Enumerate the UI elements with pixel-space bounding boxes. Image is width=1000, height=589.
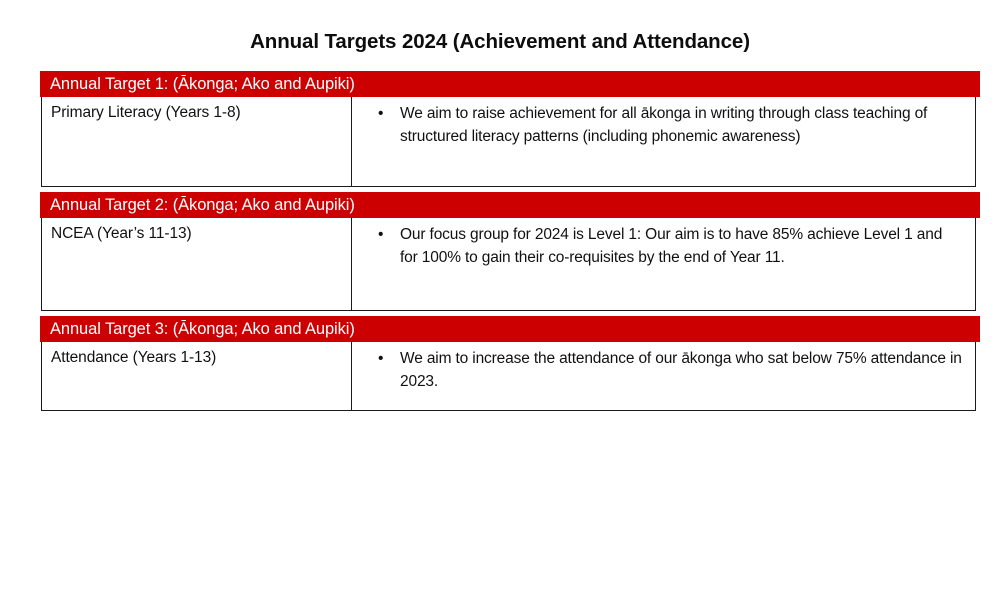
target-1-band: Annual Target 1: (Ākonga; Ako and Aupiki…: [40, 71, 980, 97]
target-1-detail-cell: • We aim to raise achievement for all āk…: [352, 97, 975, 186]
target-3-focus-cell: Attendance (Years 1-13): [42, 342, 352, 410]
target-2-focus-cell: NCEA (Year’s 11-13): [42, 218, 352, 310]
target-3-band: Annual Target 3: (Ākonga; Ako and Aupiki…: [40, 316, 980, 342]
target-3-detail-cell: • We aim to increase the attendance of o…: [352, 342, 975, 410]
target-section-1: Annual Target 1: (Ākonga; Ako and Aupiki…: [41, 71, 976, 187]
list-item: • We aim to raise achievement for all āk…: [352, 103, 963, 149]
annual-targets-table: Annual Target 1: (Ākonga; Ako and Aupiki…: [41, 71, 976, 411]
target-2-bullet-text: Our focus group for 2024 is Level 1: Our…: [400, 226, 942, 266]
page-title: Annual Targets 2024 (Achievement and Att…: [0, 30, 1000, 54]
bullet-icon: •: [378, 348, 383, 371]
target-2-bullet-list: • Our focus group for 2024 is Level 1: O…: [352, 224, 963, 270]
target-1-focus-label: Primary Literacy (Years 1-8): [51, 103, 343, 123]
target-1-band-label: Annual Target 1: (Ākonga; Ako and Aupiki…: [40, 76, 355, 93]
target-3-row: Attendance (Years 1-13) • We aim to incr…: [41, 342, 976, 411]
target-2-focus-label: NCEA (Year’s 11-13): [51, 224, 343, 244]
target-3-focus-label: Attendance (Years 1-13): [51, 348, 343, 368]
list-item: • Our focus group for 2024 is Level 1: O…: [352, 224, 963, 270]
bullet-icon: •: [378, 224, 383, 247]
bullet-icon: •: [378, 103, 383, 126]
target-3-bullet-text: We aim to increase the attendance of our…: [400, 350, 962, 390]
target-1-focus-cell: Primary Literacy (Years 1-8): [42, 97, 352, 186]
target-3-band-label: Annual Target 3: (Ākonga; Ako and Aupiki…: [40, 321, 355, 338]
target-1-bullet-text: We aim to raise achievement for all ākon…: [400, 105, 927, 145]
target-3-bullet-list: • We aim to increase the attendance of o…: [352, 348, 963, 394]
target-2-band: Annual Target 2: (Ākonga; Ako and Aupiki…: [40, 192, 980, 218]
target-1-bullet-list: • We aim to raise achievement for all āk…: [352, 103, 963, 149]
document-page: Annual Targets 2024 (Achievement and Att…: [0, 0, 1000, 589]
target-section-2: Annual Target 2: (Ākonga; Ako and Aupiki…: [41, 192, 976, 311]
target-section-3: Annual Target 3: (Ākonga; Ako and Aupiki…: [41, 316, 976, 411]
target-2-band-label: Annual Target 2: (Ākonga; Ako and Aupiki…: [40, 197, 355, 214]
target-2-row: NCEA (Year’s 11-13) • Our focus group fo…: [41, 218, 976, 311]
target-1-row: Primary Literacy (Years 1-8) • We aim to…: [41, 97, 976, 187]
list-item: • We aim to increase the attendance of o…: [352, 348, 963, 394]
target-2-detail-cell: • Our focus group for 2024 is Level 1: O…: [352, 218, 975, 310]
